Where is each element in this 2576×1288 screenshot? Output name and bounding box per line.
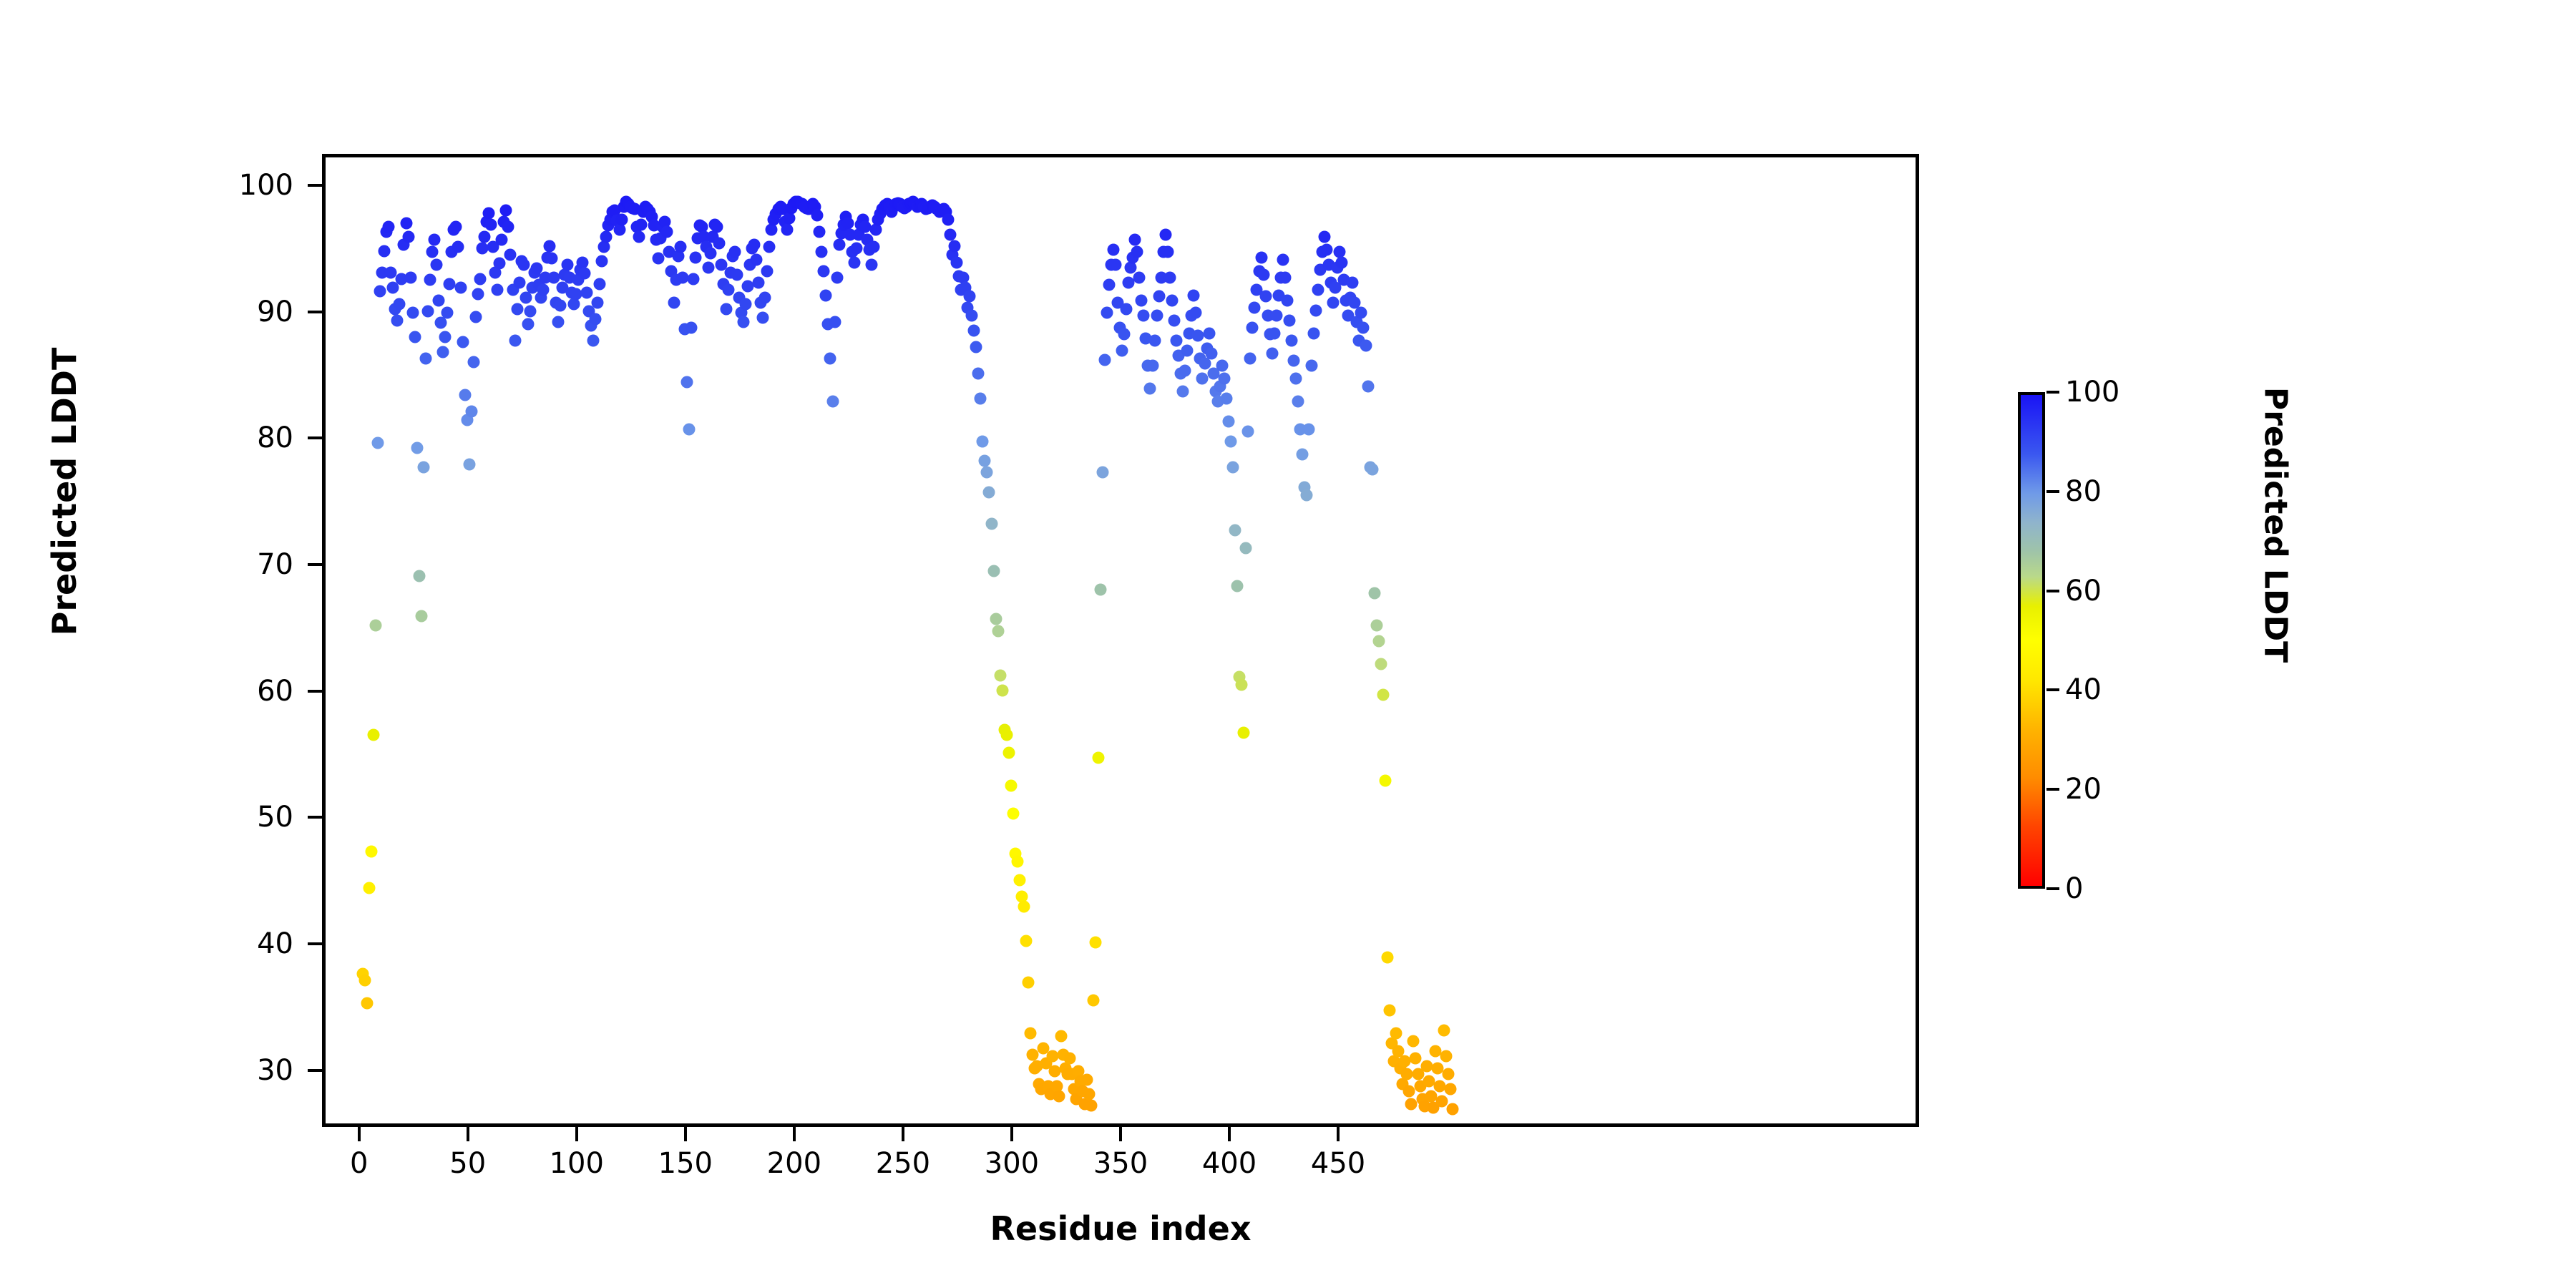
scatter-point [413, 570, 425, 582]
scatter-point [555, 299, 567, 311]
scatter-point [1312, 284, 1324, 296]
scatter-point [1136, 294, 1148, 306]
y-tick-mark [308, 563, 322, 566]
scatter-point [454, 281, 467, 293]
scatter-point [1168, 314, 1180, 326]
scatter-point [419, 352, 431, 364]
plot-area [322, 154, 1919, 1127]
scatter-point [987, 565, 1000, 577]
scatter-point [596, 255, 608, 267]
scatter-point [731, 269, 743, 281]
scatter-point [687, 273, 699, 285]
scatter-point [431, 259, 443, 271]
scatter-point [689, 251, 701, 263]
scatter-point [474, 273, 486, 285]
x-tick-mark [793, 1127, 796, 1141]
scatter-point [985, 518, 997, 530]
scatter-point [1101, 307, 1113, 319]
scatter-point [509, 335, 521, 347]
scatter-point [829, 316, 841, 328]
y-tick-label: 50 [150, 801, 293, 834]
x-tick-label: 450 [1311, 1147, 1365, 1180]
scatter-point [367, 729, 379, 741]
scatter-point [1318, 231, 1330, 243]
y-tick-label: 40 [150, 927, 293, 960]
scatter-point [1377, 688, 1389, 701]
scatter-point [1188, 289, 1200, 301]
scatter-point [1435, 1096, 1448, 1108]
colorbar-gradient [2018, 392, 2045, 889]
scatter-point [1303, 423, 1315, 435]
scatter-point [1433, 1080, 1445, 1093]
scatter-point [485, 218, 497, 230]
scatter-point [1301, 489, 1313, 501]
scatter-point [711, 221, 723, 233]
scatter-point [757, 312, 769, 324]
x-tick-mark [358, 1127, 361, 1141]
scatter-point [1227, 461, 1239, 473]
scatter-point [1018, 901, 1030, 913]
scatter-point [1146, 360, 1158, 372]
scatter-point [1249, 302, 1261, 314]
y-tick-label: 60 [150, 675, 293, 708]
colorbar-tick-mark [2046, 590, 2059, 592]
scatter-point [496, 233, 508, 245]
scatter-point [358, 974, 371, 986]
scatter-point [1153, 291, 1165, 303]
scatter-point [748, 238, 761, 250]
scatter-point [1007, 807, 1019, 819]
scatter-point [615, 213, 628, 225]
scatter-point [703, 261, 715, 273]
scatter-point [979, 454, 991, 467]
scatter-point [996, 685, 1008, 697]
scatter-point [1098, 353, 1111, 366]
scatter-point [374, 286, 386, 298]
scatter-point [469, 311, 482, 323]
scatter-point [1268, 327, 1280, 339]
scatter-point [1090, 936, 1102, 948]
scatter-point [379, 245, 391, 257]
scatter-point [483, 207, 495, 219]
scatter-point [1366, 464, 1378, 476]
scatter-point [1279, 271, 1292, 283]
scatter-point [633, 231, 645, 243]
scatter-point [713, 238, 726, 250]
scatter-point [1144, 383, 1156, 395]
scatter-point [424, 274, 436, 286]
x-tick-label: 300 [985, 1147, 1039, 1180]
scatter-point [1055, 1030, 1067, 1042]
scatter-point [1445, 1083, 1457, 1095]
scatter-point [590, 313, 602, 326]
colorbar-tick-label: 40 [2065, 673, 2102, 706]
x-tick-mark [467, 1127, 469, 1141]
scatter-point [587, 335, 600, 347]
scatter-point [406, 307, 419, 319]
scatter-point [511, 303, 523, 315]
scatter-point [1282, 294, 1294, 306]
scatter-point [668, 297, 680, 309]
scatter-point [1259, 291, 1272, 303]
colorbar: 020406080100 Predicted LDDT [2018, 392, 2304, 893]
scatter-point [463, 459, 475, 471]
scatter-point [781, 223, 793, 235]
scatter-point [546, 253, 558, 265]
scatter-point [1203, 327, 1215, 339]
scatter-point [1096, 466, 1108, 478]
scatter-point [966, 309, 978, 321]
scatter-point [1025, 1028, 1037, 1040]
scatter-point [818, 265, 830, 277]
x-tick-mark [902, 1127, 904, 1141]
scatter-point [722, 284, 734, 296]
colorbar-tick-mark [2046, 688, 2059, 691]
scatter-point [363, 882, 375, 894]
y-tick-mark [308, 1069, 322, 1072]
scatter-point [1053, 1091, 1065, 1103]
scatter-point [948, 240, 960, 252]
scatter-point [415, 610, 427, 623]
scatter-point [1410, 1053, 1422, 1065]
scatter-point [1277, 254, 1289, 266]
scatter-point [417, 461, 429, 473]
scatter-point [1362, 380, 1374, 392]
colorbar-tick-mark [2046, 887, 2059, 890]
scatter-point [1103, 279, 1115, 291]
x-tick-label: 250 [876, 1147, 930, 1180]
scatter-point [500, 205, 512, 217]
scatter-point [1181, 345, 1194, 357]
scatter-point [1246, 322, 1259, 334]
scatter-point [737, 316, 749, 328]
scatter-point [513, 276, 525, 288]
scatter-point [1225, 436, 1237, 448]
scatter-point [759, 292, 771, 304]
x-tick-label: 50 [449, 1147, 486, 1180]
scatter-point [1372, 635, 1385, 648]
x-tick-label: 0 [350, 1147, 368, 1180]
scatter-point [1236, 678, 1248, 691]
scatter-point [970, 341, 982, 353]
y-tick-label: 30 [150, 1054, 293, 1087]
scatter-point [1238, 726, 1250, 738]
x-tick-mark [575, 1127, 578, 1141]
scatter-point [394, 298, 406, 310]
scatter-point [1244, 352, 1257, 364]
y-tick-mark [308, 942, 322, 945]
scatter-point [1148, 335, 1161, 347]
scatter-point [433, 294, 445, 306]
scatter-point [537, 284, 550, 296]
scatter-point [1255, 251, 1267, 263]
scatter-point [1222, 416, 1234, 428]
scatter-point [1288, 355, 1300, 367]
scatter-point [1177, 385, 1189, 397]
scatter-point [720, 303, 732, 315]
scatter-point [1360, 340, 1372, 352]
scatter-point [1121, 303, 1133, 315]
scatter-point [365, 845, 377, 857]
scatter-point [459, 389, 471, 401]
y-tick-mark [308, 690, 322, 693]
scatter-point [1205, 347, 1217, 359]
scatter-point [437, 346, 449, 358]
scatter-point [1231, 580, 1244, 592]
x-tick-mark [684, 1127, 687, 1141]
scatter-point [820, 289, 832, 301]
scatter-point [1166, 294, 1178, 306]
y-axis-label: Predicted LDDT [45, 277, 84, 706]
scatter-point [841, 217, 854, 229]
scatter-point [761, 265, 774, 277]
scatter-point [1443, 1068, 1455, 1080]
scatter-point [1327, 297, 1339, 309]
scatter-point [990, 613, 1002, 625]
scatter-point [661, 226, 673, 238]
x-tick-label: 350 [1093, 1147, 1148, 1180]
scatter-point [728, 246, 741, 258]
scatter-point [826, 395, 839, 407]
scatter-point [402, 231, 414, 243]
scatter-point [1242, 426, 1254, 438]
scatter-point [1000, 729, 1013, 741]
scatter-point [439, 331, 452, 343]
scatter-point [972, 368, 985, 380]
scatter-point [964, 291, 976, 303]
scatter-point [1375, 658, 1387, 670]
x-tick-mark [1010, 1127, 1013, 1141]
scatter-point [1381, 952, 1393, 964]
scatter-point [1138, 309, 1150, 321]
scatter-point [1420, 1060, 1433, 1072]
scatter-point [404, 271, 416, 283]
scatter-point [544, 240, 556, 252]
colorbar-tick-mark [2046, 490, 2059, 493]
scatter-point [1109, 259, 1121, 271]
y-tick-label: 70 [150, 548, 293, 581]
scatter-point [751, 254, 763, 266]
scatter-point [680, 376, 693, 389]
scatter-point [441, 307, 454, 319]
scatter-point [824, 352, 836, 364]
scatter-point [1355, 307, 1367, 319]
scatter-point [1020, 935, 1033, 947]
scatter-point [739, 298, 751, 310]
scatter-point [592, 297, 604, 309]
scatter-point [467, 356, 479, 369]
scatter-point [1170, 335, 1182, 347]
scatter-point [1088, 995, 1100, 1007]
scatter-point [494, 258, 506, 270]
scatter-point [1190, 307, 1202, 319]
scatter-point [705, 248, 717, 260]
scatter-point [833, 238, 845, 250]
scatter-point [1083, 1088, 1096, 1100]
scatter-point [1270, 309, 1282, 321]
scatter-point [452, 241, 464, 253]
scatter-point [1131, 246, 1143, 258]
scatter-point [1027, 1049, 1039, 1061]
scatter-point [561, 259, 573, 271]
scatter-point [1005, 779, 1017, 791]
x-tick-label: 200 [767, 1147, 821, 1180]
x-tick-label: 150 [658, 1147, 713, 1180]
scatter-point [1081, 1074, 1093, 1086]
scatter-point [1347, 276, 1359, 288]
scatter-point [977, 436, 989, 448]
scatter-point [1320, 243, 1332, 255]
scatter-point [411, 442, 423, 454]
scatter-point [409, 331, 421, 343]
scatter-point [1438, 1025, 1450, 1037]
scatter-point [369, 619, 381, 631]
y-tick-mark [308, 184, 322, 187]
scatter-point [391, 314, 404, 326]
scatter-point [992, 625, 1004, 638]
scatter-point [1284, 314, 1296, 326]
x-tick-label: 100 [550, 1147, 604, 1180]
colorbar-tick-label: 60 [2065, 575, 2102, 608]
scatter-point [1011, 855, 1023, 867]
scatter-point [683, 423, 695, 435]
scatter-point [968, 324, 980, 336]
x-tick-mark [1228, 1127, 1231, 1141]
y-tick-label: 90 [150, 296, 293, 328]
scatter-point [944, 228, 956, 240]
scatter-point [1286, 335, 1298, 347]
scatter-point [522, 318, 534, 331]
colorbar-tick-mark [2046, 788, 2059, 791]
scatter-point [426, 246, 439, 258]
scatter-point [674, 241, 686, 253]
scatter-point [1014, 874, 1026, 887]
scatter-point [1220, 393, 1232, 405]
scatter-point [1023, 977, 1035, 989]
scatter-point [578, 268, 590, 280]
scatter-point [517, 259, 530, 271]
scatter-point [371, 437, 384, 449]
scatter-point [868, 241, 880, 253]
scatter-point [763, 241, 776, 253]
scatter-point [994, 670, 1006, 682]
scatter-point [429, 233, 441, 245]
scatter-point [580, 286, 592, 298]
scatter-point [1163, 271, 1176, 283]
scatter-point [1116, 345, 1128, 357]
scatter-point [848, 256, 860, 268]
scatter-point [1092, 751, 1104, 763]
scatter-point [1368, 587, 1380, 600]
y-tick-mark [308, 436, 322, 439]
scatter-point [1305, 360, 1317, 372]
colorbar-tick-label: 0 [2065, 872, 2083, 905]
scatter-point [1266, 347, 1278, 359]
scatter-point [383, 221, 395, 233]
scatter-point [478, 231, 490, 243]
scatter-point [942, 213, 954, 225]
colorbar-tick-label: 100 [2065, 376, 2119, 409]
scatter-point [600, 231, 613, 243]
scatter-point [1179, 365, 1191, 377]
scatter-point [1094, 584, 1106, 596]
y-tick-mark [308, 311, 322, 313]
scatter-point [361, 997, 373, 1009]
scatter-point [816, 246, 828, 258]
scatter-point [1390, 1028, 1402, 1040]
scatter-points-layer [326, 157, 1916, 1123]
scatter-point [1307, 327, 1319, 339]
scatter-point [1447, 1103, 1459, 1115]
scatter-point [1379, 774, 1391, 786]
scatter-point [1218, 373, 1230, 385]
scatter-point [1383, 1005, 1395, 1017]
scatter-point [811, 210, 824, 222]
scatter-point [635, 218, 647, 230]
scatter-point [981, 466, 993, 478]
scatter-point [653, 253, 665, 265]
scatter-point [492, 284, 504, 296]
scatter-point [975, 393, 987, 405]
scatter-point [1357, 322, 1370, 334]
scatter-point [814, 226, 826, 238]
scatter-point [1407, 1035, 1420, 1047]
scatter-point [1159, 228, 1171, 240]
y-tick-mark [308, 816, 322, 819]
colorbar-tick-label: 20 [2065, 773, 2102, 806]
scatter-point [1133, 271, 1146, 283]
scatter-point [831, 271, 843, 283]
colorbar-tick-mark [2046, 391, 2059, 394]
scatter-point [1216, 360, 1228, 372]
scatter-point [552, 316, 565, 328]
y-tick-label: 80 [150, 421, 293, 454]
scatter-point [524, 306, 536, 318]
scatter-point [1085, 1099, 1098, 1111]
scatter-point [866, 259, 878, 271]
scatter-point [1290, 373, 1302, 385]
scatter-point [1297, 449, 1309, 461]
scatter-point [1063, 1053, 1075, 1065]
colorbar-tick-label: 80 [2065, 475, 2102, 508]
scatter-point [576, 256, 588, 268]
scatter-point [502, 221, 514, 233]
scatter-point [1002, 746, 1015, 758]
scatter-point [1129, 233, 1141, 245]
scatter-point [450, 221, 462, 233]
scatter-point [859, 221, 872, 233]
scatter-point [1257, 269, 1269, 281]
scatter-point [1107, 243, 1119, 255]
y-tick-label: 100 [150, 169, 293, 202]
x-tick-label: 400 [1202, 1147, 1257, 1180]
scatter-point [457, 336, 469, 348]
scatter-point [1151, 309, 1163, 321]
scatter-point [1440, 1050, 1453, 1062]
scatter-point [594, 278, 606, 290]
x-tick-mark [1337, 1127, 1340, 1141]
colorbar-label: Predicted LDDT [2258, 375, 2294, 675]
scatter-point [1240, 542, 1252, 554]
scatter-point [1336, 256, 1348, 268]
scatter-point [1118, 328, 1131, 341]
scatter-point [950, 256, 962, 268]
scatter-point [983, 487, 995, 499]
scatter-point [850, 243, 862, 255]
scatter-point [1229, 525, 1241, 537]
scatter-point [400, 217, 412, 229]
scatter-point [1370, 619, 1382, 631]
